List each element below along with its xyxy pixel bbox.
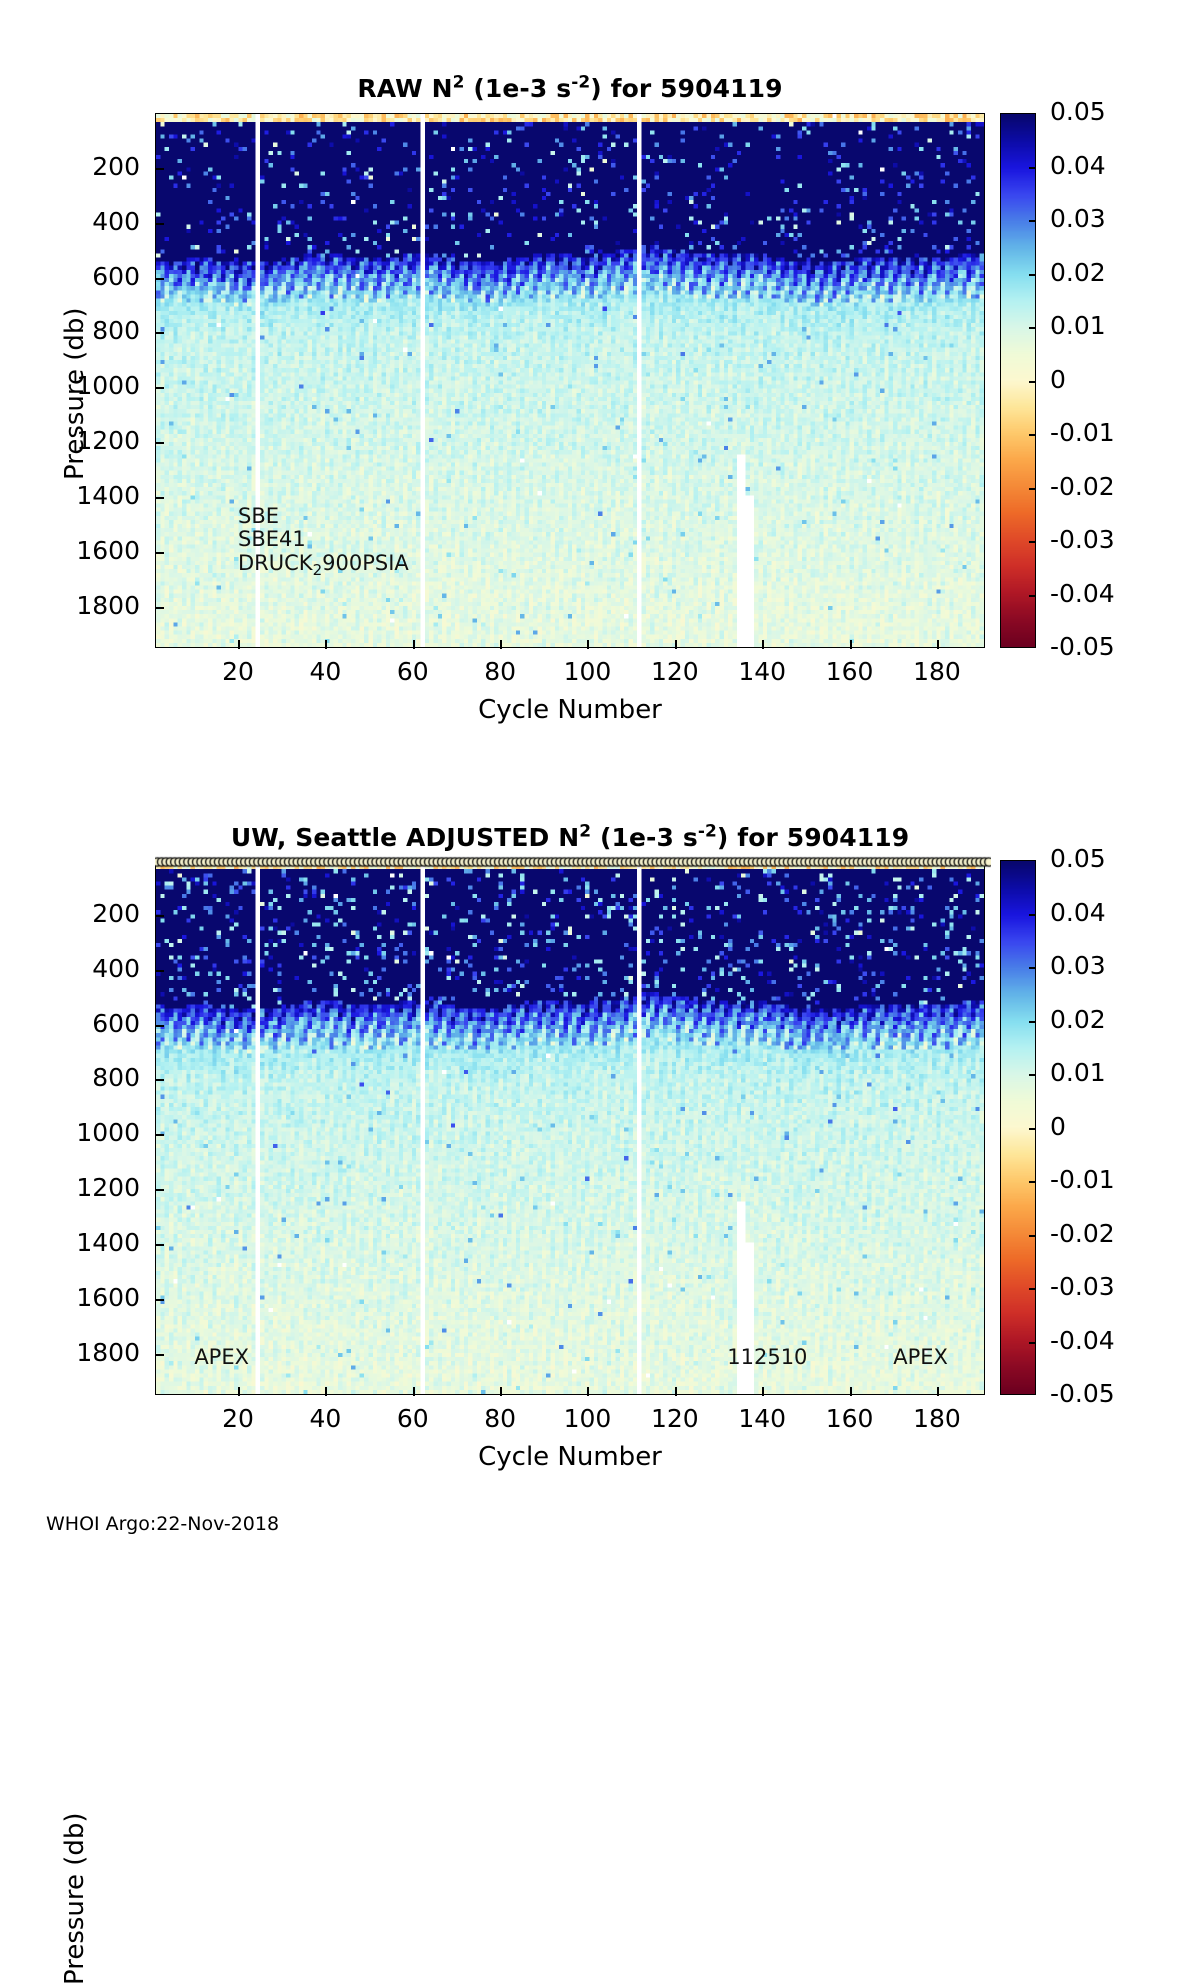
colorbar-tick-label: 0.02 (1050, 258, 1106, 287)
colorbar-tick-label: -0.03 (1050, 525, 1115, 554)
ytick-label: 800 (5, 1063, 140, 1092)
ytick-label: 600 (5, 262, 140, 291)
xtick-mark (325, 1387, 327, 1396)
colorbar-tick-label: -0.01 (1050, 418, 1115, 447)
xtick-label: 180 (892, 1404, 982, 1433)
xtick-mark (850, 1387, 852, 1396)
colorbar-tick-mark (1029, 1021, 1035, 1023)
colorbar-tick-mark (1029, 274, 1035, 276)
wmo-serial: 112510 (727, 1345, 807, 1369)
panel-adjusted-heatmap (156, 861, 984, 1394)
colorbar-tick-mark (1029, 1128, 1035, 1130)
colorbar-tick-label: 0.03 (1050, 951, 1106, 980)
ytick-label: 1200 (5, 426, 140, 455)
panel-adjusted-title: UW, Seattle ADJUSTED N2 (1e-3 s-2) for 5… (130, 823, 1010, 852)
ytick-label: 1000 (5, 371, 140, 400)
ytick-mark (155, 1299, 164, 1301)
title-main: ADJUSTED N (406, 823, 579, 852)
ytick-mark (155, 1025, 164, 1027)
ytick-label: 400 (5, 954, 140, 983)
xtick-label: 180 (892, 657, 982, 686)
title-superscript-neg2: -2 (571, 73, 590, 93)
colorbar-tick-label: -0.03 (1050, 1272, 1115, 1301)
xtick-label: 80 (455, 1404, 545, 1433)
colorbar-tick-mark (1029, 967, 1035, 969)
panel-adjusted-xlabel: Cycle Number (155, 1442, 985, 1472)
colorbar-tick-mark (1029, 1342, 1035, 1344)
colorbar-tick-label: -0.02 (1050, 472, 1115, 501)
ytick-mark (155, 223, 164, 225)
ytick-mark (155, 1079, 164, 1081)
xtick-label: 120 (630, 1404, 720, 1433)
colorbar-tick-mark (1029, 327, 1035, 329)
ytick-label: 400 (5, 207, 140, 236)
pressure-sensor-text: DRUCK (238, 551, 313, 575)
figure-footer: WHOI Argo:22-Nov-2018 (46, 1513, 279, 1535)
xtick-mark (762, 1387, 764, 1396)
xtick-mark (850, 640, 852, 649)
xtick-mark (238, 640, 240, 649)
title-main: RAW N (357, 74, 452, 103)
ytick-mark (155, 1134, 164, 1136)
ytick-mark (155, 1189, 164, 1191)
colorbar-tick-mark (1029, 541, 1035, 543)
ytick-mark (155, 1244, 164, 1246)
xtick-mark (500, 1387, 502, 1396)
xtick-label: 20 (193, 1404, 283, 1433)
title-tail: ) for 5904119 (717, 823, 909, 852)
colorbar-tick-label: -0.04 (1050, 579, 1115, 608)
float-type-left: APEX (194, 1345, 249, 1369)
colorbar-tick-mark (1029, 1181, 1035, 1183)
ytick-label: 200 (5, 152, 140, 181)
xtick-label: 80 (455, 657, 545, 686)
colorbar-tick-label: 0.03 (1050, 204, 1106, 233)
xtick-label: 40 (280, 1404, 370, 1433)
colorbar-tick-label: 0 (1050, 1112, 1066, 1141)
colorbar-tick-mark (1029, 488, 1035, 490)
xtick-label: 100 (542, 1404, 632, 1433)
ytick-label: 200 (5, 899, 140, 928)
colorbar-tick-label: 0.04 (1050, 898, 1106, 927)
colorbar-tick-label: -0.01 (1050, 1165, 1115, 1194)
xtick-label: 120 (630, 657, 720, 686)
xtick-mark (587, 640, 589, 649)
colorbar-tick-label: 0.04 (1050, 151, 1106, 180)
panel-adjusted-axes[interactable] (155, 860, 985, 1395)
ytick-label: 1400 (5, 1228, 140, 1257)
title-mid: (1e-3 s (465, 74, 572, 103)
xtick-label: 40 (280, 657, 370, 686)
panel-adjusted-ylabel: Pressure (db) (60, 1812, 90, 1985)
xtick-label: 100 (542, 657, 632, 686)
title-prefix: UW, Seattle (231, 823, 406, 852)
ytick-mark (155, 332, 164, 334)
xtick-mark (500, 640, 502, 649)
ytick-mark (155, 442, 164, 444)
pressure-sensor-subscript: 2 (313, 561, 323, 579)
colorbar-tick-mark (1029, 381, 1035, 383)
title-tail: ) for 5904119 (590, 74, 782, 103)
colorbar-tick-mark (1029, 434, 1035, 436)
ytick-mark (155, 607, 164, 609)
colorbar-tick-label: 0.05 (1050, 844, 1106, 873)
float-type-right: APEX (893, 1345, 948, 1369)
ytick-mark (155, 552, 164, 554)
colorbar-tick-label: -0.05 (1050, 1379, 1115, 1408)
colorbar-tick-label: -0.04 (1050, 1326, 1115, 1355)
colorbar-tick-mark (1029, 220, 1035, 222)
ytick-label: 1600 (5, 1283, 140, 1312)
xtick-mark (413, 640, 415, 649)
xtick-label: 140 (717, 657, 807, 686)
colorbar-tick-mark (1029, 167, 1035, 169)
colorbar-tick-label: 0.01 (1050, 311, 1106, 340)
colorbar-tick-label: 0.02 (1050, 1005, 1106, 1034)
xtick-mark (675, 640, 677, 649)
ytick-label: 1800 (5, 591, 140, 620)
ytick-mark (155, 168, 164, 170)
ytick-label: 600 (5, 1009, 140, 1038)
colorbar-tick-mark (1029, 914, 1035, 916)
xtick-label: 160 (805, 1404, 895, 1433)
title-mid: (1e-3 s (591, 823, 698, 852)
colorbar-tick-mark (1029, 1235, 1035, 1237)
colorbar-tick-label: 0.05 (1050, 97, 1106, 126)
colorbar-tick-mark (1029, 1288, 1035, 1290)
xtick-mark (937, 1387, 939, 1396)
xtick-mark (238, 1387, 240, 1396)
ytick-label: 1000 (5, 1118, 140, 1147)
xtick-label: 60 (368, 657, 458, 686)
ytick-mark (155, 497, 164, 499)
colorbar-tick-label: -0.02 (1050, 1219, 1115, 1248)
xtick-mark (675, 1387, 677, 1396)
colorbar-tick-label: 0.01 (1050, 1058, 1106, 1087)
pressure-sensor: DRUCK2900PSIA (238, 551, 409, 575)
ytick-label: 1600 (5, 536, 140, 565)
xtick-mark (413, 1387, 415, 1396)
xtick-mark (325, 640, 327, 649)
xtick-mark (937, 640, 939, 649)
colorbar-tick-mark (1029, 595, 1035, 597)
xtick-label: 60 (368, 1404, 458, 1433)
ytick-mark (155, 1354, 164, 1356)
ytick-label: 1200 (5, 1173, 140, 1202)
xtick-label: 20 (193, 657, 283, 686)
colorbar-tick-label: 0 (1050, 365, 1066, 394)
ytick-label: 1400 (5, 481, 140, 510)
ytick-label: 800 (5, 316, 140, 345)
sensor-model: SBE (238, 504, 279, 528)
panel-raw-title: RAW N2 (1e-3 s-2) for 5904119 (155, 74, 985, 103)
ytick-mark (155, 970, 164, 972)
pressure-sensor-suffix: 900PSIA (322, 551, 409, 575)
ytick-mark (155, 387, 164, 389)
colorbar-tick-label: -0.05 (1050, 632, 1115, 661)
xtick-label: 160 (805, 657, 895, 686)
ytick-mark (155, 915, 164, 917)
title-superscript-2: 2 (453, 73, 465, 93)
xtick-label: 140 (717, 1404, 807, 1433)
xtick-mark (762, 640, 764, 649)
panel-raw-xlabel: Cycle Number (155, 695, 985, 725)
xtick-mark (587, 1387, 589, 1396)
title-superscript-neg2: -2 (698, 822, 717, 842)
colorbar-tick-mark (1029, 1074, 1035, 1076)
ytick-mark (155, 278, 164, 280)
title-superscript-2: 2 (579, 822, 591, 842)
ctd-model: SBE41 (238, 527, 306, 551)
ytick-label: 1800 (5, 1338, 140, 1367)
